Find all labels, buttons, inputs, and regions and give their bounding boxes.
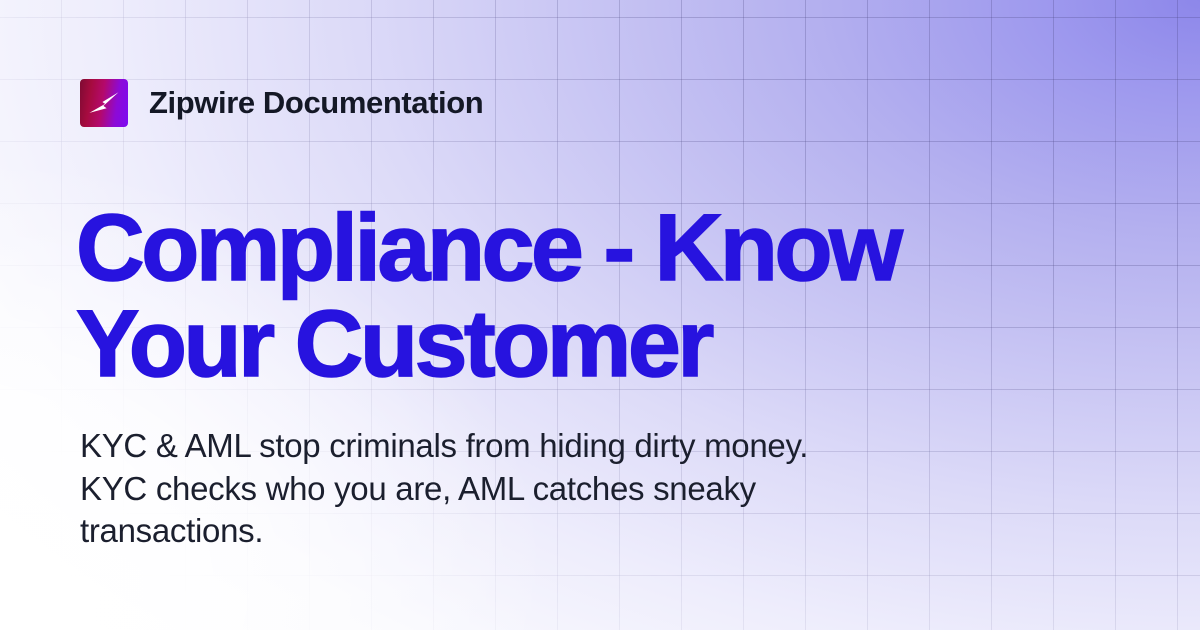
social-card-canvas: Zipwire Documentation Compliance - Know … [0,0,1200,630]
page-subtitle: KYC & AML stop criminals from hiding dir… [80,425,870,553]
card-content: Zipwire Documentation Compliance - Know … [80,0,1120,630]
lightning-bolt-icon [80,79,128,127]
brand-name: Zipwire Documentation [149,85,483,121]
page-title: Compliance - Know Your Customer [76,200,1056,392]
brand-header: Zipwire Documentation [80,79,483,127]
